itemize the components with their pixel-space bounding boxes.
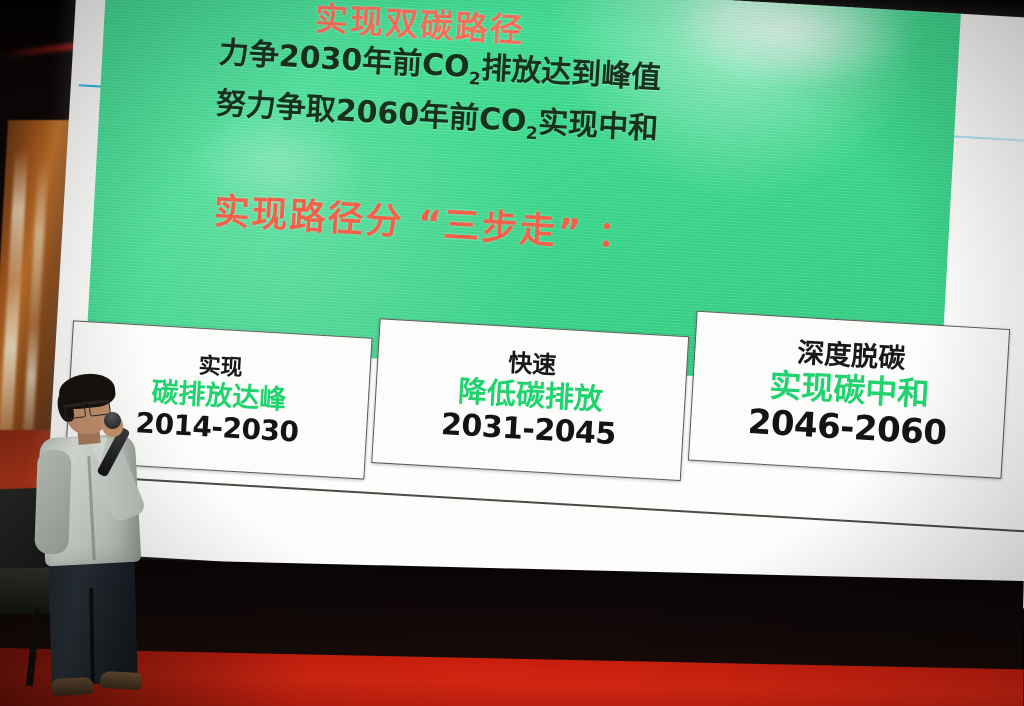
speaker-figure (26, 378, 156, 706)
projection-screen-wrapper: 三. 达到“双碳”目标的基本路径 实现双碳路径 力争2030年前CO2排放达到峰… (42, 0, 1024, 639)
step-box-3: 深度脱碳 实现碳中和 2046-2060 (688, 311, 1010, 479)
panel-line-1-tail: 排放达到峰值 (480, 51, 662, 96)
panel-line-2-tail: 实现中和 (537, 105, 659, 147)
step-2-line-1: 快速 (507, 350, 557, 381)
speaker-shoe-left (52, 677, 95, 696)
panel-line-2-subscript: 2 (525, 123, 538, 144)
photo-scene: 三. 达到“双碳”目标的基本路径 实现双碳路径 力争2030年前CO2排放达到峰… (0, 0, 1024, 706)
panel-line-1-subscript: 2 (468, 69, 481, 90)
panel-light-glare (662, 0, 918, 98)
projection-screen: 三. 达到“双碳”目标的基本路径 实现双碳路径 力争2030年前CO2排放达到峰… (44, 0, 1024, 609)
step-1-years: 2014-2030 (135, 407, 300, 449)
speaker-arm-left (34, 449, 72, 554)
speaker-shoe-right (100, 671, 143, 690)
step-box-2: 快速 降低碳排放 2031-2045 (371, 318, 689, 481)
step-1-line-1: 实现 (198, 354, 243, 382)
